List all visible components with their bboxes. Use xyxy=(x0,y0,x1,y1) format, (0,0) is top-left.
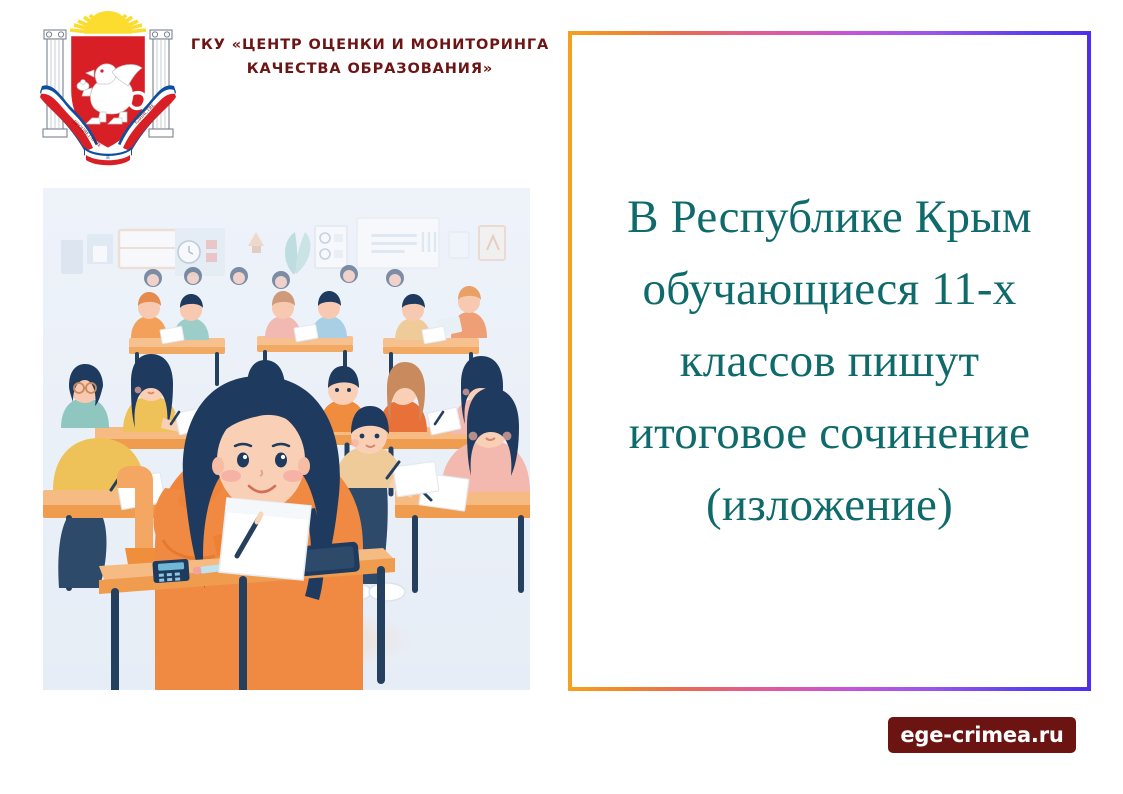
site-badge[interactable]: ege-crimea.ru xyxy=(888,717,1076,753)
organization-title-line2: КАЧЕСТВА ОБРАЗОВАНИЯ» xyxy=(178,57,562,81)
organization-title: ГКУ «ЦЕНТР ОЦЕНКИ И МОНИТОРИНГА КАЧЕСТВА… xyxy=(178,33,562,81)
quote-text: В Республике Крым обучающиеся 11-х класс… xyxy=(615,181,1045,541)
quote-panel: В Республике Крым обучающиеся 11-х класс… xyxy=(568,31,1091,691)
crimea-coat-of-arms-icon: В ПРОЦВЕТАНИЕ ЕДИНСТВЕ xyxy=(28,4,188,169)
classroom-exam-illustration xyxy=(43,188,530,690)
quote-panel-inner: В Республике Крым обучающиеся 11-х класс… xyxy=(572,35,1087,687)
svg-text:В: В xyxy=(106,155,110,161)
header: В ПРОЦВЕТАНИЕ ЕДИНСТВЕ ГКУ «ЦЕНТР ОЦЕНКИ… xyxy=(0,0,568,180)
site-badge-label: ege-crimea.ru xyxy=(900,723,1063,747)
organization-title-line1: ГКУ «ЦЕНТР ОЦЕНКИ И МОНИТОРИНГА xyxy=(191,37,549,53)
